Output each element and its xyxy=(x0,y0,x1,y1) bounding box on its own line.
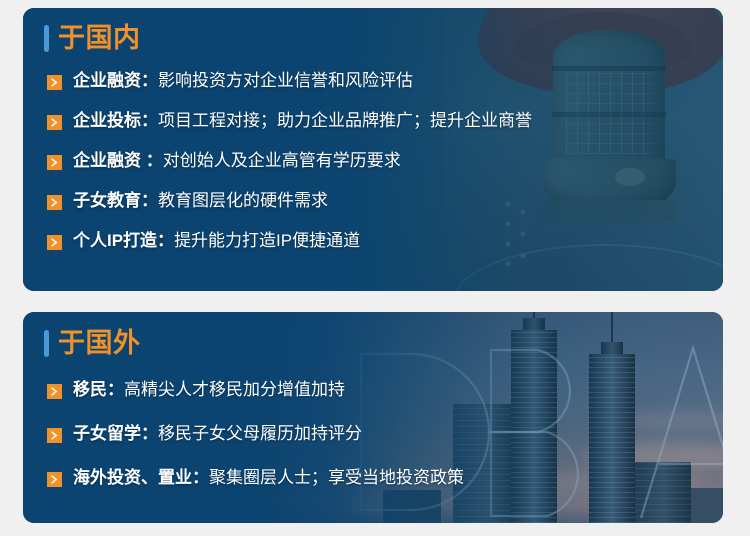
list-item-body: 高精尖人才移民加分增值加持 xyxy=(124,380,345,399)
list-item-text: 企业融资：影响投资方对企业信誉和风险评估 xyxy=(73,72,413,91)
list-item-body: 聚集圈层人士；享受当地投资政策 xyxy=(209,468,464,487)
list-item[interactable]: 移民：高精尖人才移民加分增值加持 xyxy=(47,373,723,408)
list-item-label: 子女教育： xyxy=(73,191,158,210)
list-item-text: 海外投资、置业：聚集圈层人士；享受当地投资政策 xyxy=(73,469,464,488)
list-item-text: 企业投标：项目工程对接；助力企业品牌推广；提升企业商誉 xyxy=(73,112,532,131)
list-item[interactable]: 企业投标：项目工程对接；助力企业品牌推广；提升企业商誉 xyxy=(47,105,723,137)
card-overseas-title: 于国外 xyxy=(23,312,723,357)
card-domestic-content: 于国内 企业融资：影响投资方对企业信誉和风险评估 企业投标：项目工程对接；助力企… xyxy=(23,8,723,257)
list-item[interactable]: 企业融资：影响投资方对企业信誉和风险评估 xyxy=(47,65,723,97)
list-item-label: 海外投资、置业： xyxy=(73,468,209,487)
list-item-body: 对创始人及企业高管有学历要求 xyxy=(163,151,401,170)
list-item-text: 企业融资 ：对创始人及企业高管有学历要求 xyxy=(73,152,401,171)
card-domestic-bullet-list: 企业融资：影响投资方对企业信誉和风险评估 企业投标：项目工程对接；助力企业品牌推… xyxy=(23,52,723,257)
list-item-label: 企业融资： xyxy=(73,71,158,90)
chevron-right-icon xyxy=(47,155,62,170)
card-domestic: 于国内 企业融资：影响投资方对企业信誉和风险评估 企业投标：项目工程对接；助力企… xyxy=(23,8,723,291)
chevron-right-icon xyxy=(47,235,62,250)
title-accent-bar xyxy=(44,330,49,357)
card-overseas: 于国外 移民：高精尖人才移民加分增值加持 子女留学：移民子女父母履历加持评分 xyxy=(23,312,723,523)
chevron-right-icon xyxy=(47,75,62,90)
list-item[interactable]: 企业融资 ：对创始人及企业高管有学历要求 xyxy=(47,145,723,177)
list-item-body: 移民子女父母履历加持评分 xyxy=(158,424,362,443)
list-item-label: 子女留学： xyxy=(73,424,158,443)
chevron-right-icon xyxy=(47,115,62,130)
list-item-label: 个人IP打造： xyxy=(73,231,174,250)
list-item[interactable]: 子女留学：移民子女父母履历加持评分 xyxy=(47,417,723,452)
card-domestic-title: 于国内 xyxy=(23,8,723,52)
list-item-body: 项目工程对接；助力企业品牌推广；提升企业商誉 xyxy=(158,111,532,130)
chevron-right-icon xyxy=(47,472,62,487)
list-item-body: 影响投资方对企业信誉和风险评估 xyxy=(158,71,413,90)
chevron-right-icon xyxy=(47,428,62,443)
list-item-text: 个人IP打造：提升能力打造IP便捷通道 xyxy=(73,232,360,251)
list-item[interactable]: 海外投资、置业：聚集圈层人士；享受当地投资政策 xyxy=(47,461,723,496)
chevron-right-icon xyxy=(47,195,62,210)
list-item[interactable]: 子女教育：教育图层化的硬件需求 xyxy=(47,185,723,217)
list-item[interactable]: 个人IP打造：提升能力打造IP便捷通道 xyxy=(47,225,723,257)
list-item-label: 企业融资 ： xyxy=(73,151,163,170)
card-overseas-title-text: 于国外 xyxy=(58,330,141,357)
title-accent-bar xyxy=(44,25,49,52)
card-overseas-content: 于国外 移民：高精尖人才移民加分增值加持 子女留学：移民子女父母履历加持评分 xyxy=(23,312,723,496)
list-item-body: 教育图层化的硬件需求 xyxy=(158,191,328,210)
slide-root: 于国内 企业融资：影响投资方对企业信誉和风险评估 企业投标：项目工程对接；助力企… xyxy=(0,0,750,536)
list-item-label: 移民： xyxy=(73,380,124,399)
card-domestic-title-text: 于国内 xyxy=(58,25,141,52)
list-item-text: 子女教育：教育图层化的硬件需求 xyxy=(73,192,328,211)
list-item-body: 提升能力打造IP便捷通道 xyxy=(174,231,360,250)
chevron-right-icon xyxy=(47,384,62,399)
list-item-label: 企业投标： xyxy=(73,111,158,130)
card-overseas-bullet-list: 移民：高精尖人才移民加分增值加持 子女留学：移民子女父母履历加持评分 海外投资、… xyxy=(23,357,723,496)
list-item-text: 移民：高精尖人才移民加分增值加持 xyxy=(73,381,345,400)
list-item-text: 子女留学：移民子女父母履历加持评分 xyxy=(73,425,362,444)
